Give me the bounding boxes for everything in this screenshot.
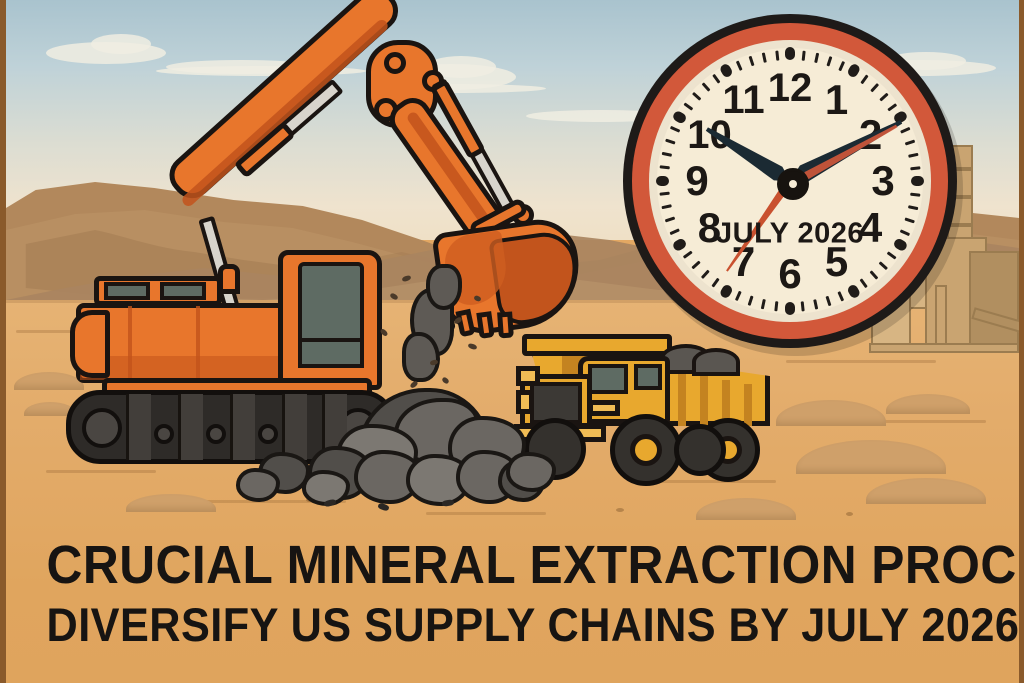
engine-vent (104, 282, 150, 300)
clock-numeral-9: 9 (685, 160, 708, 202)
ground-pebble (846, 512, 853, 516)
truck-ore-load (692, 348, 740, 376)
truck-windshield (588, 364, 628, 394)
clock-numeral-1: 1 (825, 79, 848, 121)
ground-pebble (616, 508, 624, 512)
truck-bed-rib (678, 372, 686, 426)
falling-dirt-clump (402, 332, 440, 382)
counterweight (70, 310, 110, 378)
ground-streak (46, 470, 156, 473)
truck-tire-rear-b (674, 424, 726, 476)
engine-vent (160, 282, 206, 300)
truck-side-window (634, 364, 662, 390)
truck-cab-step (588, 400, 620, 416)
clock-numeral-3: 3 (871, 160, 894, 202)
track-shoe (126, 394, 151, 460)
falling-dirt-clump (426, 264, 462, 310)
cab-window-lower (298, 338, 364, 368)
rock (506, 452, 556, 492)
track-roller (206, 424, 226, 444)
ground-streak (646, 480, 776, 483)
truck-bed-rib (700, 376, 708, 426)
ground-streak (426, 512, 546, 515)
rock (236, 468, 280, 502)
clock-center-hub (777, 168, 809, 200)
wall-clock: 121234567891011 JULY 2026 (623, 14, 957, 348)
track-shoe (178, 394, 203, 460)
truck-wheel-hub (630, 434, 662, 466)
plant-building-right (969, 251, 1019, 347)
boom-pivot-pin (384, 52, 406, 74)
ore-rock-pile (302, 388, 542, 500)
headline-text: Crucial Mineral Extraction Process (47, 538, 979, 593)
truck-headlight-block (516, 366, 540, 386)
caption-block: Crucial Mineral Extraction Process Diver… (6, 538, 1019, 649)
track-sprocket (82, 408, 122, 448)
mining-poster: 121234567891011 JULY 2026 Crucial Minera… (0, 0, 1024, 683)
clock-numeral-6: 6 (778, 253, 801, 295)
clock-numeral-12: 12 (768, 68, 813, 108)
track-shoe (230, 394, 255, 460)
clock-numeral-11: 11 (722, 80, 764, 120)
track-roller (154, 424, 174, 444)
subline-text: Diversify US Supply Chains by July 2026 (47, 601, 979, 649)
exhaust-stack (218, 264, 240, 294)
clock-date-label: JULY 2026 (716, 218, 864, 251)
excavator-boom-shade (180, 18, 390, 209)
track-roller (258, 424, 278, 444)
truck-bed-rib (744, 384, 752, 426)
